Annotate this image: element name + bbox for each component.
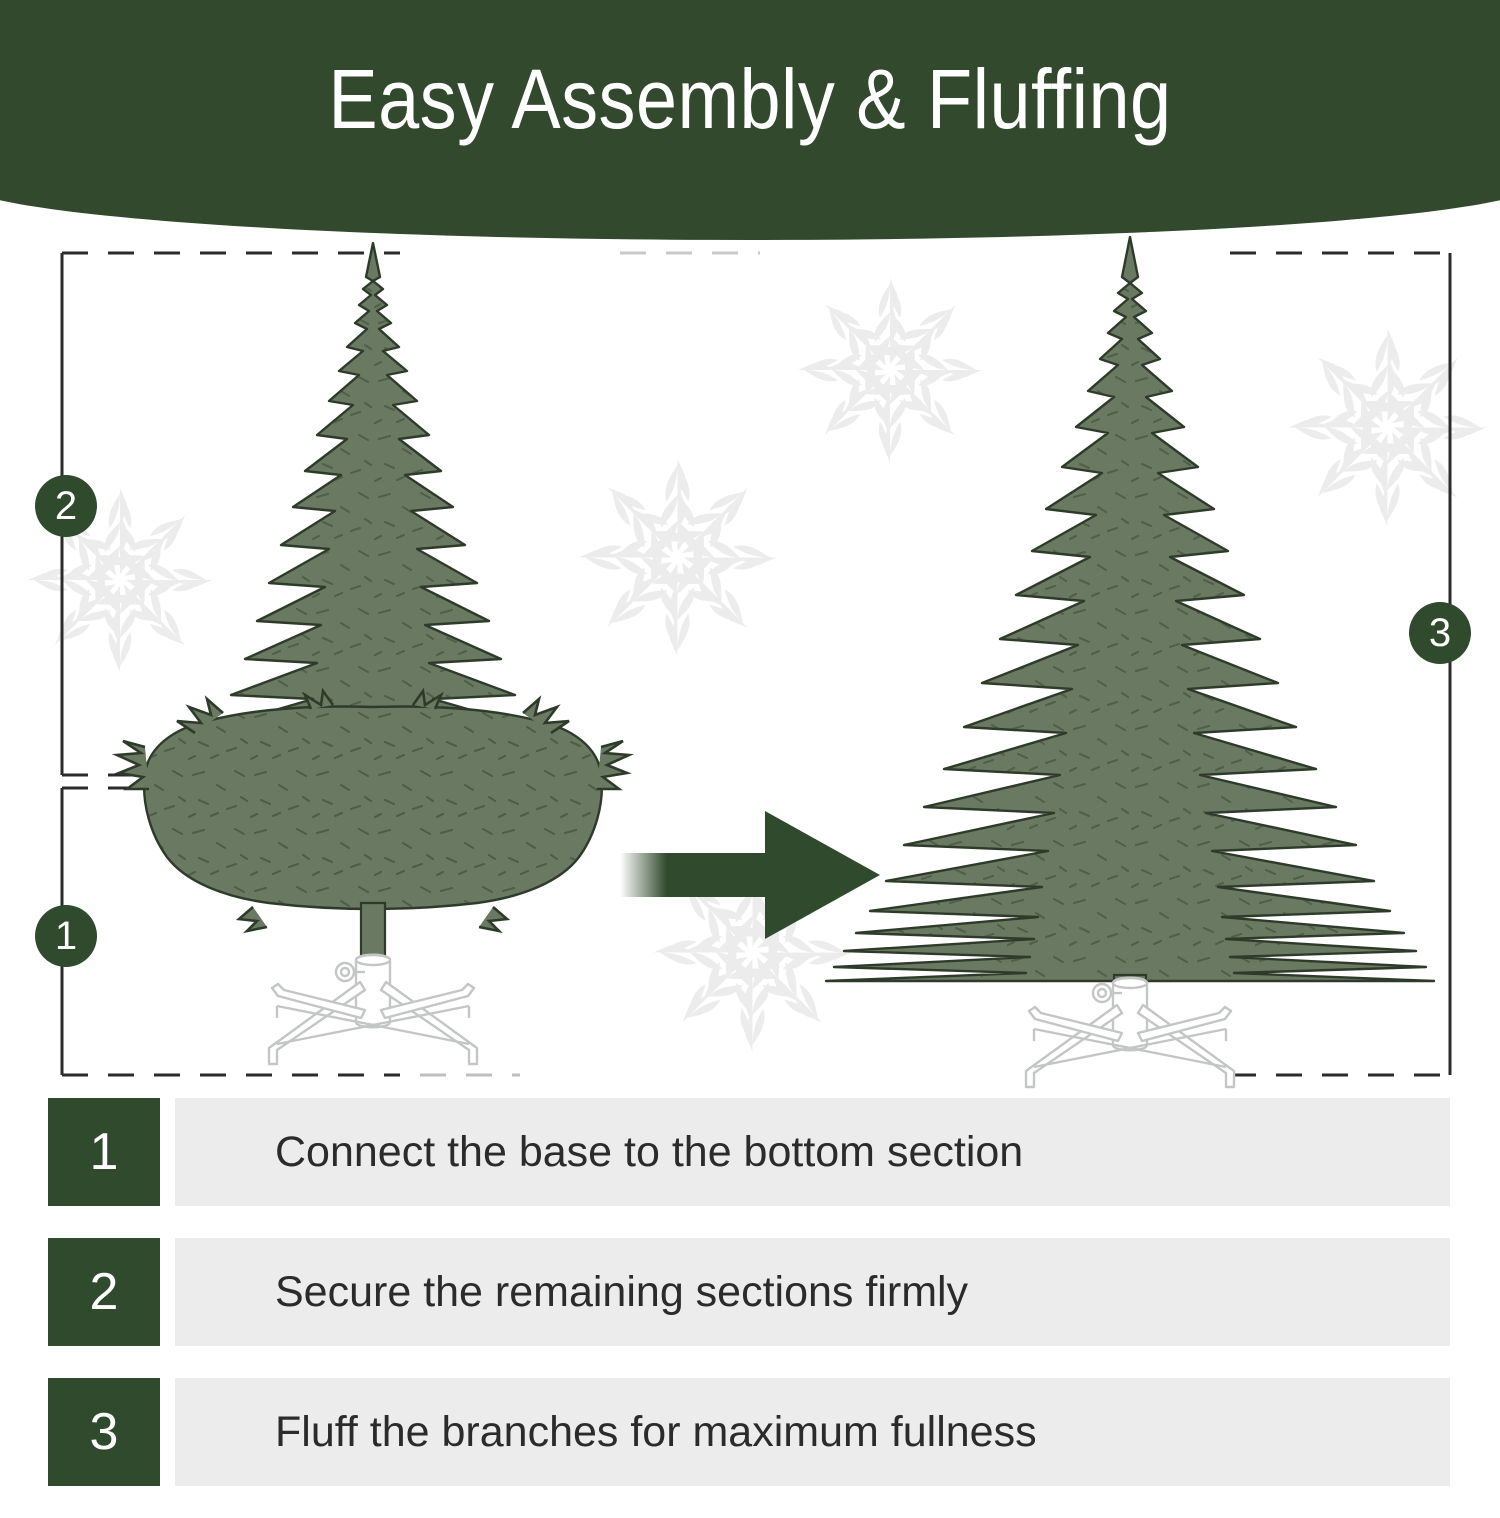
instruction-number: 2 [90,1263,119,1321]
bracket-badge-2: 2 [35,475,97,537]
tree-bottom-trunk [361,903,385,957]
tree-stand-left [269,955,477,1064]
instruction-number: 1 [90,1123,119,1181]
instruction-row: 3 Fluff the branches for maximum fullnes… [0,1378,1500,1486]
assembly-illustration [0,215,1500,1095]
bracket-badge-2-label: 2 [55,484,77,528]
instruction-text: Fluff the branches for maximum fullness [275,1378,1037,1486]
instruction-bar: Connect the base to the bottom section [175,1098,1450,1206]
bracket-badge-1: 1 [35,905,97,967]
instruction-list: 1 Connect the base to the bottom section… [0,1098,1500,1518]
instruction-number-badge: 2 [48,1238,160,1346]
instruction-bar: Secure the remaining sections firmly [175,1238,1450,1346]
tree-stand-right [1026,978,1234,1087]
page-title: Easy Assembly & Fluffing [90,55,1410,143]
instruction-text: Secure the remaining sections firmly [275,1238,968,1346]
instruction-number: 3 [90,1403,119,1461]
tree-bottom-section [117,691,629,957]
instruction-row: 1 Connect the base to the bottom section [0,1098,1500,1206]
bracket-badge-3-label: 3 [1429,611,1451,655]
instruction-row: 2 Secure the remaining sections firmly [0,1238,1500,1346]
bracket-badge-3: 3 [1409,602,1471,664]
bracket-badge-1-label: 1 [55,914,77,958]
instruction-text: Connect the base to the bottom section [275,1098,1023,1206]
instruction-bar: Fluff the branches for maximum fullness [175,1378,1450,1486]
instruction-number-badge: 1 [48,1098,160,1206]
instruction-number-badge: 3 [48,1378,160,1486]
